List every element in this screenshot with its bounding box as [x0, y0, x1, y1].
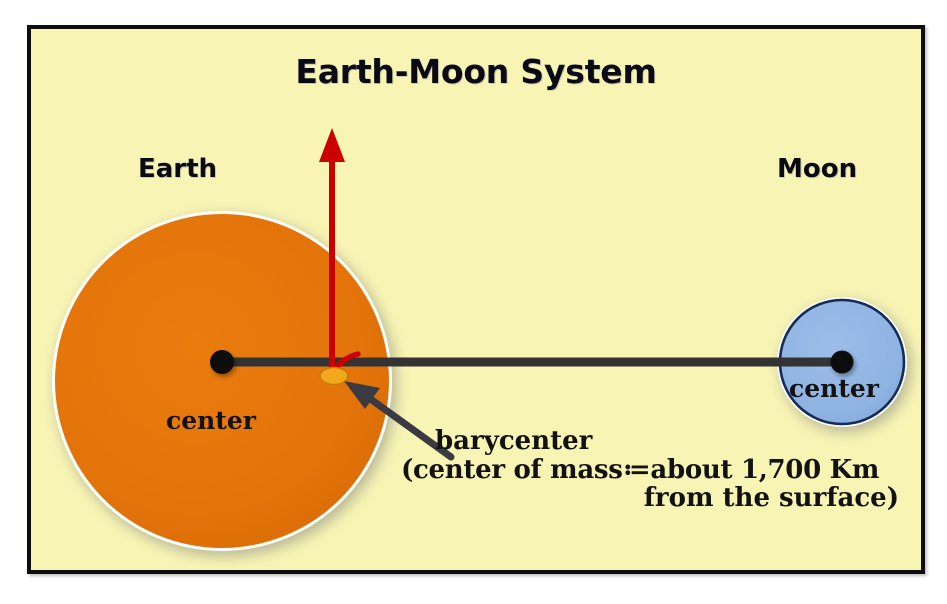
barycenter-marker: [320, 368, 348, 385]
earth-center-dot: [210, 350, 234, 374]
barycenter-annotation-line-2: (center of mass≔about 1,700 Km: [401, 456, 921, 485]
moon-label: Moon: [777, 154, 857, 184]
diagram-canvas: Earth-Moon System Earth Moon center cent…: [0, 0, 947, 604]
barycenter-annotation-line-3: from the surface): [401, 484, 921, 513]
earth-center-label: center: [166, 406, 256, 435]
page-title: Earth-Moon System: [31, 52, 921, 91]
diagram-inner: Earth-Moon System Earth Moon center cent…: [31, 29, 921, 570]
moon-center-dot: [831, 351, 854, 374]
diagram-frame: Earth-Moon System Earth Moon center cent…: [27, 25, 925, 574]
moon-center-label: center: [789, 374, 879, 403]
barycenter-annotation: barycenter (center of mass≔about 1,700 K…: [401, 427, 921, 513]
earth-label: Earth: [138, 154, 217, 184]
barycenter-annotation-line-1: barycenter: [401, 427, 921, 456]
